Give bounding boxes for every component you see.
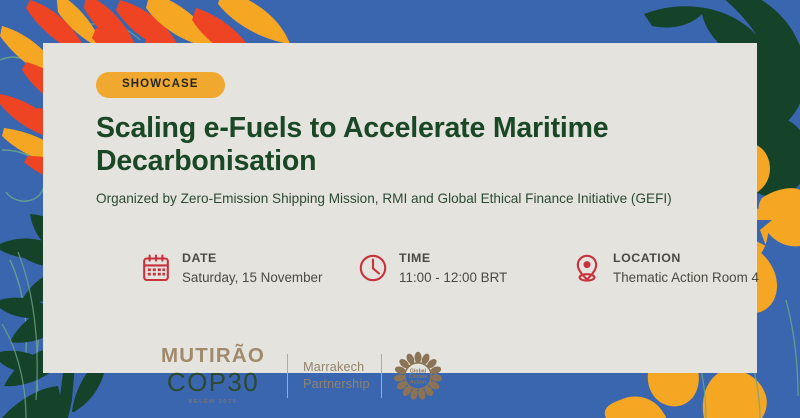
mutirao-cop30-logo: MUTIRÃO COP30 BELÉM 2025	[161, 346, 265, 405]
marrakech-partnership-logo: Marrakech Partnership	[303, 359, 370, 391]
marrakech-line-1: Marrakech	[303, 359, 370, 375]
mutirao-wordmark: MUTIRÃO	[161, 346, 265, 367]
clock-icon	[356, 249, 390, 287]
belem-2025-label: BELÉM 2025	[161, 400, 265, 406]
calendar-icon	[139, 249, 173, 287]
detail-location-text: LOCATION Thematic Action Room 4	[613, 249, 759, 287]
event-organizer: Organized by Zero-Emission Shipping Miss…	[96, 190, 737, 208]
gca-line-3: Action	[410, 379, 426, 385]
event-details-row: DATE Saturday, 15 November TIME 11:00 - …	[139, 249, 799, 287]
line-accent-left	[0, 57, 48, 410]
logo-strip: MUTIRÃO COP30 BELÉM 2025 Marrakech Partn…	[161, 346, 443, 405]
event-title: Scaling e-Fuels to Accelerate Maritime D…	[96, 112, 716, 178]
logo-divider	[287, 354, 288, 398]
map-pin-icon	[570, 249, 604, 287]
location-label: LOCATION	[613, 251, 759, 267]
detail-date: DATE Saturday, 15 November	[139, 249, 356, 287]
event-poster: SHOWCASE Scaling e-Fuels to Accelerate M…	[0, 0, 800, 418]
detail-location: LOCATION Thematic Action Room 4	[570, 249, 799, 287]
cop30-wordmark: COP30	[161, 369, 265, 395]
card-content: SHOWCASE Scaling e-Fuels to Accelerate M…	[96, 72, 737, 207]
logo-divider-2	[381, 354, 382, 398]
detail-time: TIME 11:00 - 12:00 BRT	[356, 249, 570, 287]
detail-time-text: TIME 11:00 - 12:00 BRT	[399, 249, 507, 287]
location-value: Thematic Action Room 4	[613, 269, 759, 287]
time-value: 11:00 - 12:00 BRT	[399, 269, 507, 287]
date-label: DATE	[182, 251, 322, 267]
detail-date-text: DATE Saturday, 15 November	[182, 249, 322, 287]
global-climate-action-logo: Global Climate Action	[393, 351, 443, 401]
event-card: SHOWCASE Scaling e-Fuels to Accelerate M…	[43, 43, 757, 373]
line-accent-bottom-left	[2, 252, 37, 418]
date-value: Saturday, 15 November	[182, 269, 322, 287]
time-label: TIME	[399, 251, 507, 267]
marrakech-line-2: Partnership	[303, 376, 370, 392]
showcase-badge: SHOWCASE	[96, 72, 225, 98]
